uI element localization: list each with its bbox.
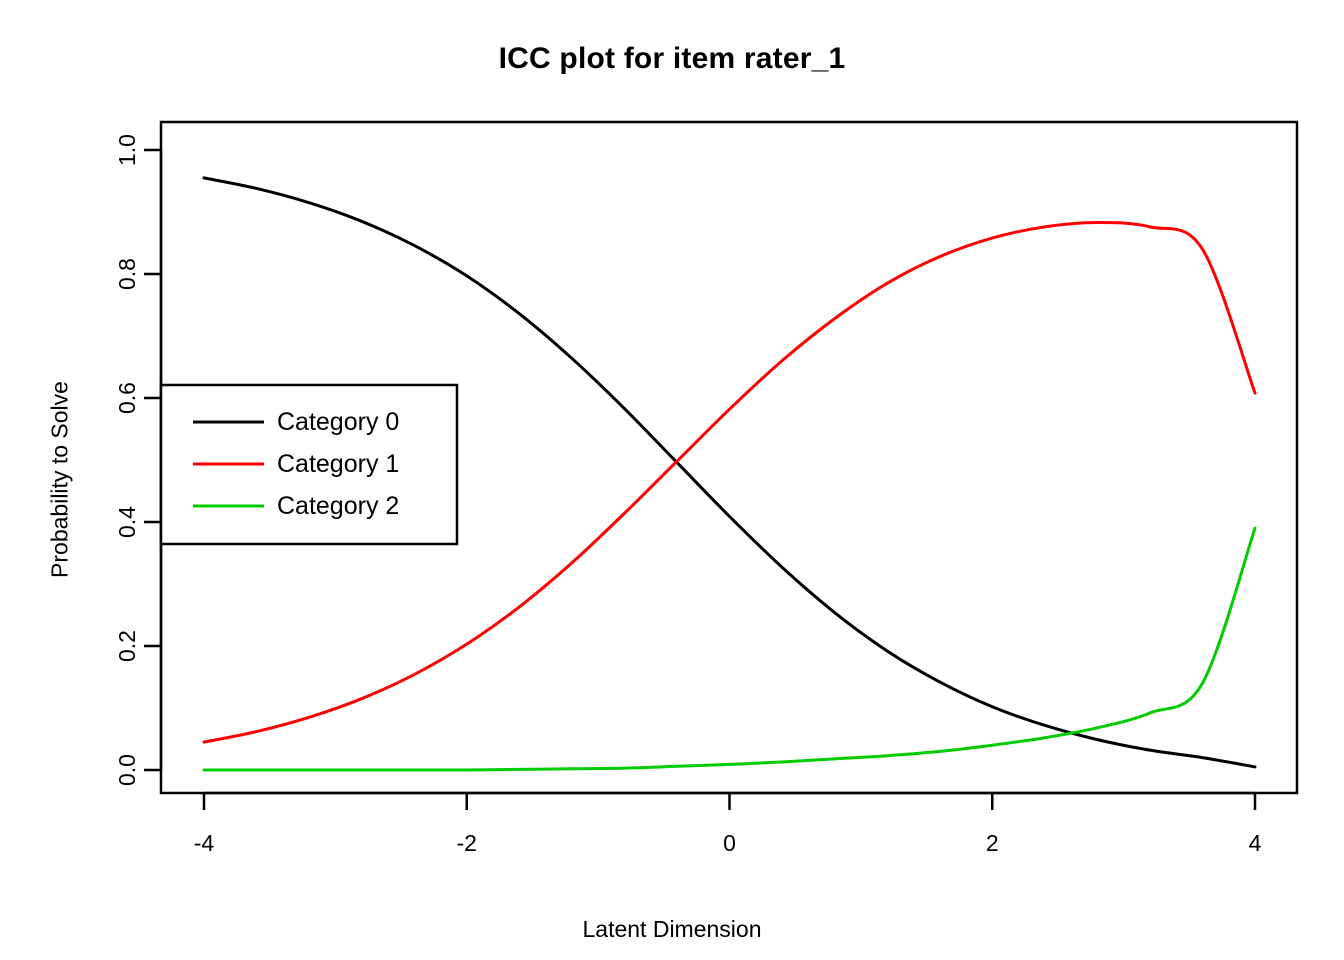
x-axis-tick-label: -2: [457, 830, 477, 856]
legend: Category 0Category 1Category 2: [161, 385, 457, 544]
legend-label-2: Category 2: [277, 492, 399, 520]
y-axis-tick-label: 0.6: [114, 382, 140, 414]
x-axis-tick-label: -4: [194, 830, 215, 856]
y-axis-tick-label: 0.8: [114, 258, 140, 290]
x-axis-tick-label: 0: [723, 830, 736, 856]
legend-label-1: Category 1: [277, 450, 399, 478]
y-axis-label: Probability to Solve: [47, 280, 74, 680]
x-axis-tick-label: 4: [1249, 830, 1262, 856]
y-axis: 0.00.20.40.60.81.0: [114, 134, 161, 786]
y-axis-tick-label: 1.0: [114, 134, 140, 166]
y-axis-tick-label: 0.2: [114, 630, 140, 662]
icc-plot: -4-2024 0.00.20.40.60.81.0 Category 0Cat…: [0, 0, 1344, 960]
x-axis-label: Latent Dimension: [0, 916, 1344, 943]
chart-root: ICC plot for item rater_1 -4-2024 0.00.2…: [0, 0, 1344, 960]
x-axis-tick-label: 2: [986, 830, 999, 856]
y-axis-tick-label: 0.0: [114, 754, 140, 786]
y-axis-tick-label: 0.4: [114, 506, 140, 538]
legend-label-0: Category 0: [277, 408, 399, 436]
x-axis: -4-2024: [194, 793, 1262, 856]
series-line-2: [204, 528, 1255, 770]
